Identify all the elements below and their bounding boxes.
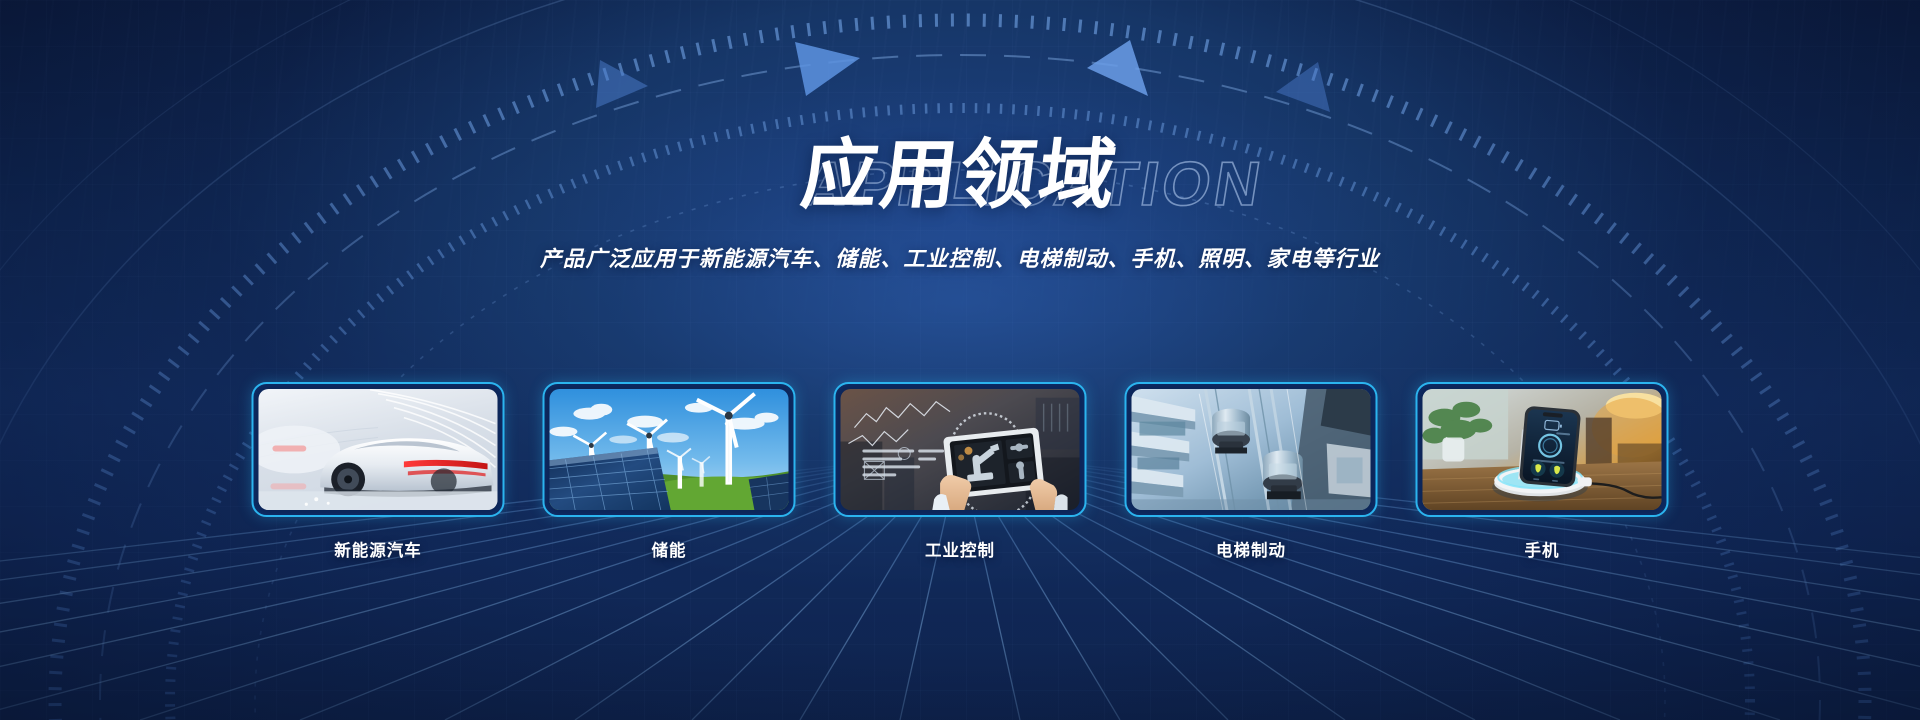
vignette <box>0 0 1920 720</box>
page-subtitle: 产品广泛应用于新能源汽车、储能、工业控制、电梯制动、手机、照明、家电等行业 <box>0 242 1920 273</box>
card-frame[interactable] <box>252 382 505 517</box>
mobile-phone-photo <box>1423 389 1662 510</box>
card-frame[interactable] <box>543 382 796 517</box>
application-card-elevator-braking[interactable]: 电梯制动 <box>1125 382 1378 561</box>
card-label: 手机 <box>1416 537 1669 561</box>
card-label: 电梯制动 <box>1125 537 1378 561</box>
card-frame[interactable] <box>1416 382 1669 517</box>
tick-arc-decoration <box>0 0 1920 720</box>
card-frame[interactable] <box>1125 382 1378 517</box>
perspective-grid-floor <box>0 0 1920 720</box>
card-label: 新能源汽车 <box>252 537 505 561</box>
new-energy-vehicle-photo <box>259 389 498 510</box>
elevator-braking-photo <box>1132 389 1371 510</box>
application-card-mobile-phone[interactable]: 手机 <box>1416 382 1669 561</box>
center-glow <box>0 0 1920 720</box>
application-banner: APPLICATION 应用领域 产品广泛应用于新能源汽车、储能、工业控制、电梯… <box>0 0 1920 720</box>
dot-grid-texture <box>0 0 1920 720</box>
title-row: APPLICATION 应用领域 <box>0 128 1920 224</box>
energy-storage-photo <box>550 389 789 510</box>
card-frame[interactable] <box>834 382 1087 517</box>
application-card-list: 新能源汽车 <box>252 382 1669 561</box>
application-card-new-energy-vehicle[interactable]: 新能源汽车 <box>252 382 505 561</box>
banner-header: APPLICATION 应用领域 产品广泛应用于新能源汽车、储能、工业控制、电梯… <box>0 128 1920 273</box>
application-card-industrial-control[interactable]: 工业控制 <box>834 382 1087 561</box>
card-label: 工业控制 <box>834 537 1087 561</box>
card-label: 储能 <box>543 537 796 561</box>
page-title: 应用领域 <box>797 138 1122 214</box>
industrial-control-photo <box>841 389 1080 510</box>
application-card-energy-storage[interactable]: 储能 <box>543 382 796 561</box>
vertical-streaks <box>0 0 1920 720</box>
